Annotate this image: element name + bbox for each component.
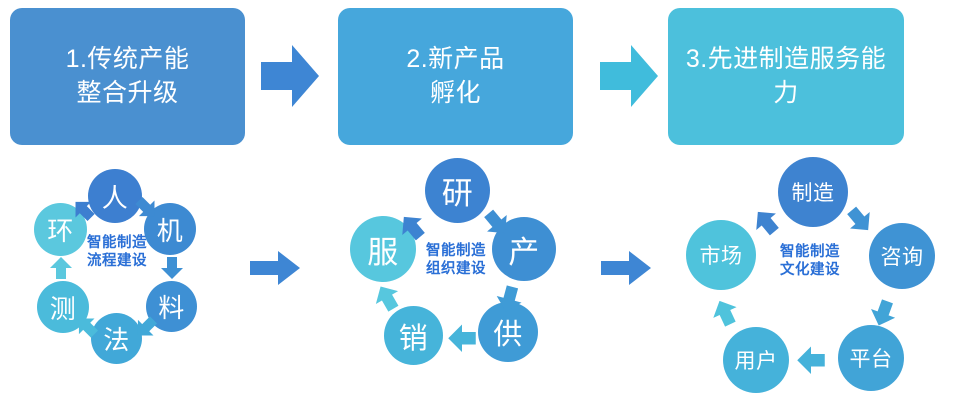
arrow-up-shape (50, 257, 72, 279)
arrow-up-shape (708, 295, 742, 329)
cycle-3-node-zixun: 咨询 (869, 223, 935, 289)
stage-box-1: 1.传统产能 整合升级 (10, 8, 245, 145)
stage-3-line-1: 3.先进制造服务能 (686, 43, 886, 77)
stage-3-line-2: 力 (686, 77, 886, 111)
cycle-1-center-line-1: 智能制造 (41, 234, 193, 252)
stage-2-line-1: 2.新产品 (406, 43, 504, 77)
cycle-3-arrow-yonghu-to-shichang (707, 293, 744, 330)
cycle-2-arrow-gong-to-xiao (447, 320, 477, 352)
cycle-2-node-xiao: 销 (384, 306, 443, 365)
arrow-up-shape (842, 202, 878, 238)
stage-arrow-2-icon (600, 45, 658, 107)
stage-arrow-1-icon (261, 45, 319, 107)
cycle-2-center-label: 智能制造 组织建设 (391, 242, 521, 278)
cycle-3-node-shichang: 市场 (686, 220, 756, 290)
cycle-1-arrow-ji-to-liao (159, 256, 183, 280)
stage-1-line-1: 1.传统产能 (66, 43, 190, 77)
stage-box-2: 2.新产品 孵化 (338, 8, 573, 145)
arrow-right-shape (250, 251, 300, 285)
cycle-1-arrow-ce-to-huan (50, 256, 74, 280)
arrow-up-shape (797, 347, 825, 375)
arrow-up-shape (161, 257, 183, 279)
stage-1-text: 1.传统产能 整合升级 (66, 43, 190, 111)
cycle-3-center-label: 智能制造 文化建设 (754, 243, 866, 279)
arrow-right-shape (261, 45, 319, 107)
cycle-group-1: 人 机 料 法 测 环 智能制造 流程建设 (2, 155, 230, 404)
stage-2-text: 2.新产品 孵化 (406, 43, 504, 111)
cycle-3-arrow-zhizao-to-zixun (839, 201, 878, 240)
cycle-group-3: 制造 咨询 平台 用户 市场 智能制造 文化建设 (660, 155, 960, 404)
cycle-3-center-line-2: 文化建设 (754, 261, 866, 279)
arrow-up-shape (448, 325, 476, 353)
cycle-link-arrow-2-icon (601, 251, 651, 285)
arrow-up-shape (748, 204, 784, 240)
cycle-3-arrow-pingtai-to-yonghu (796, 342, 826, 374)
cycle-2-center-line-2: 组织建设 (391, 260, 521, 278)
cycle-3-center-line-1: 智能制造 (754, 243, 866, 261)
stage-2-line-2: 孵化 (406, 77, 504, 111)
cycle-group-2: 研 产 供 销 服 智能制造 组织建设 (340, 155, 598, 404)
stage-3-text: 3.先进制造服务能 力 (686, 43, 886, 111)
stage-box-3: 3.先进制造服务能 力 (668, 8, 904, 145)
cycle-2-node-yan: 研 (425, 158, 490, 223)
arrow-right-shape (601, 251, 651, 285)
cycle-3-node-yonghu: 用户 (723, 327, 789, 393)
cycle-3-node-pingtai: 平台 (838, 325, 904, 391)
stage-1-line-2: 整合升级 (66, 77, 190, 111)
cycle-1-node-ren: 人 (88, 169, 142, 223)
cycle-3-node-zhizao: 制造 (778, 157, 848, 227)
arrow-right-shape (600, 45, 658, 107)
cycle-link-arrow-1-icon (250, 251, 300, 285)
